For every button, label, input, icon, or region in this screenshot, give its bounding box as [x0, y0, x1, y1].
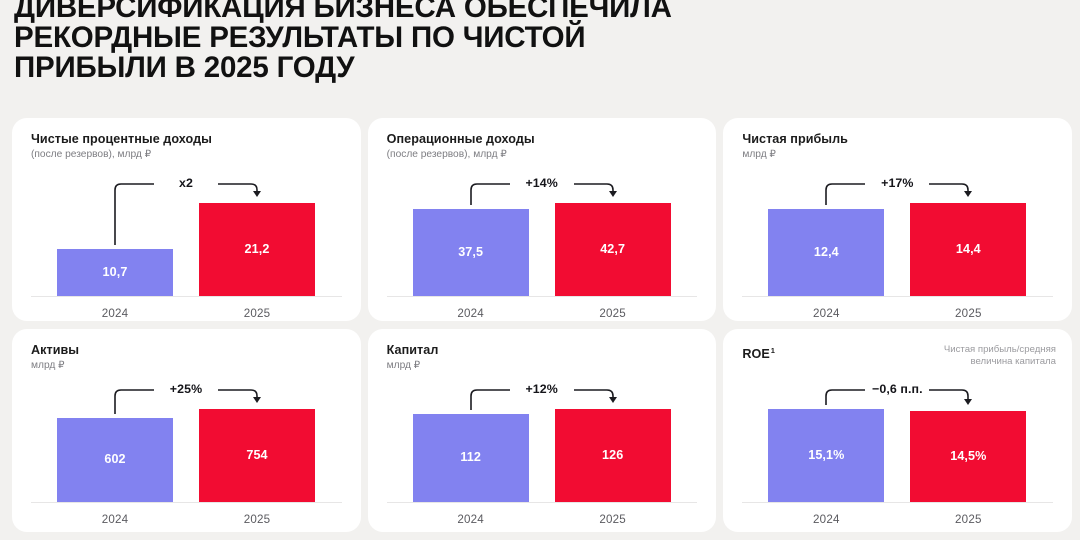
metric-card-grid: Чистые процентные доходы(после резервов)… — [12, 118, 1072, 532]
delta-label: +14% — [506, 176, 578, 190]
arrow-head-icon — [253, 191, 261, 197]
delta-connector — [12, 118, 361, 321]
bar-chart-plot: 12,4202414,42025+17% — [723, 118, 1072, 321]
metric-card: Чистые процентные доходы(после резервов)… — [12, 118, 361, 321]
arrow-head-icon — [609, 191, 617, 197]
delta-label: +12% — [506, 382, 578, 396]
metric-card: Капиталмлрд ₽11220241262025+12% — [368, 329, 717, 532]
delta-connector — [368, 118, 717, 321]
delta-connector — [723, 118, 1072, 321]
delta-label: x2 — [150, 176, 222, 190]
page-headline: ДИВЕРСИФИКАЦИЯ БИЗНЕСА ОБЕСПЕЧИЛА РЕКОРД… — [14, 0, 1064, 83]
delta-connector — [368, 329, 717, 532]
delta-label: −0,6 п.п. — [861, 382, 933, 396]
bar-chart-plot: 60220247542025+25% — [12, 329, 361, 532]
delta-label: +25% — [150, 382, 222, 396]
metric-card: Чистая прибыльмлрд ₽12,4202414,42025+17% — [723, 118, 1072, 321]
arrow-head-icon — [253, 397, 261, 403]
bar-chart-plot: 11220241262025+12% — [368, 329, 717, 532]
arrow-head-icon — [609, 397, 617, 403]
bar-chart-plot: 15,1%202414,5%2025−0,6 п.п. — [723, 329, 1072, 532]
bar-chart-plot: 37,5202442,72025+14% — [368, 118, 717, 321]
arrow-head-icon — [964, 191, 972, 197]
metric-card: ROE1Чистая прибыль/средняя величина капи… — [723, 329, 1072, 532]
metric-card: Операционные доходы(после резервов), млр… — [368, 118, 717, 321]
arrow-head-icon — [964, 399, 972, 405]
delta-connector — [723, 329, 1072, 532]
delta-label: +17% — [861, 176, 933, 190]
metric-card: Активымлрд ₽60220247542025+25% — [12, 329, 361, 532]
delta-connector — [12, 329, 361, 532]
bar-chart-plot: 10,7202421,22025x2 — [12, 118, 361, 321]
